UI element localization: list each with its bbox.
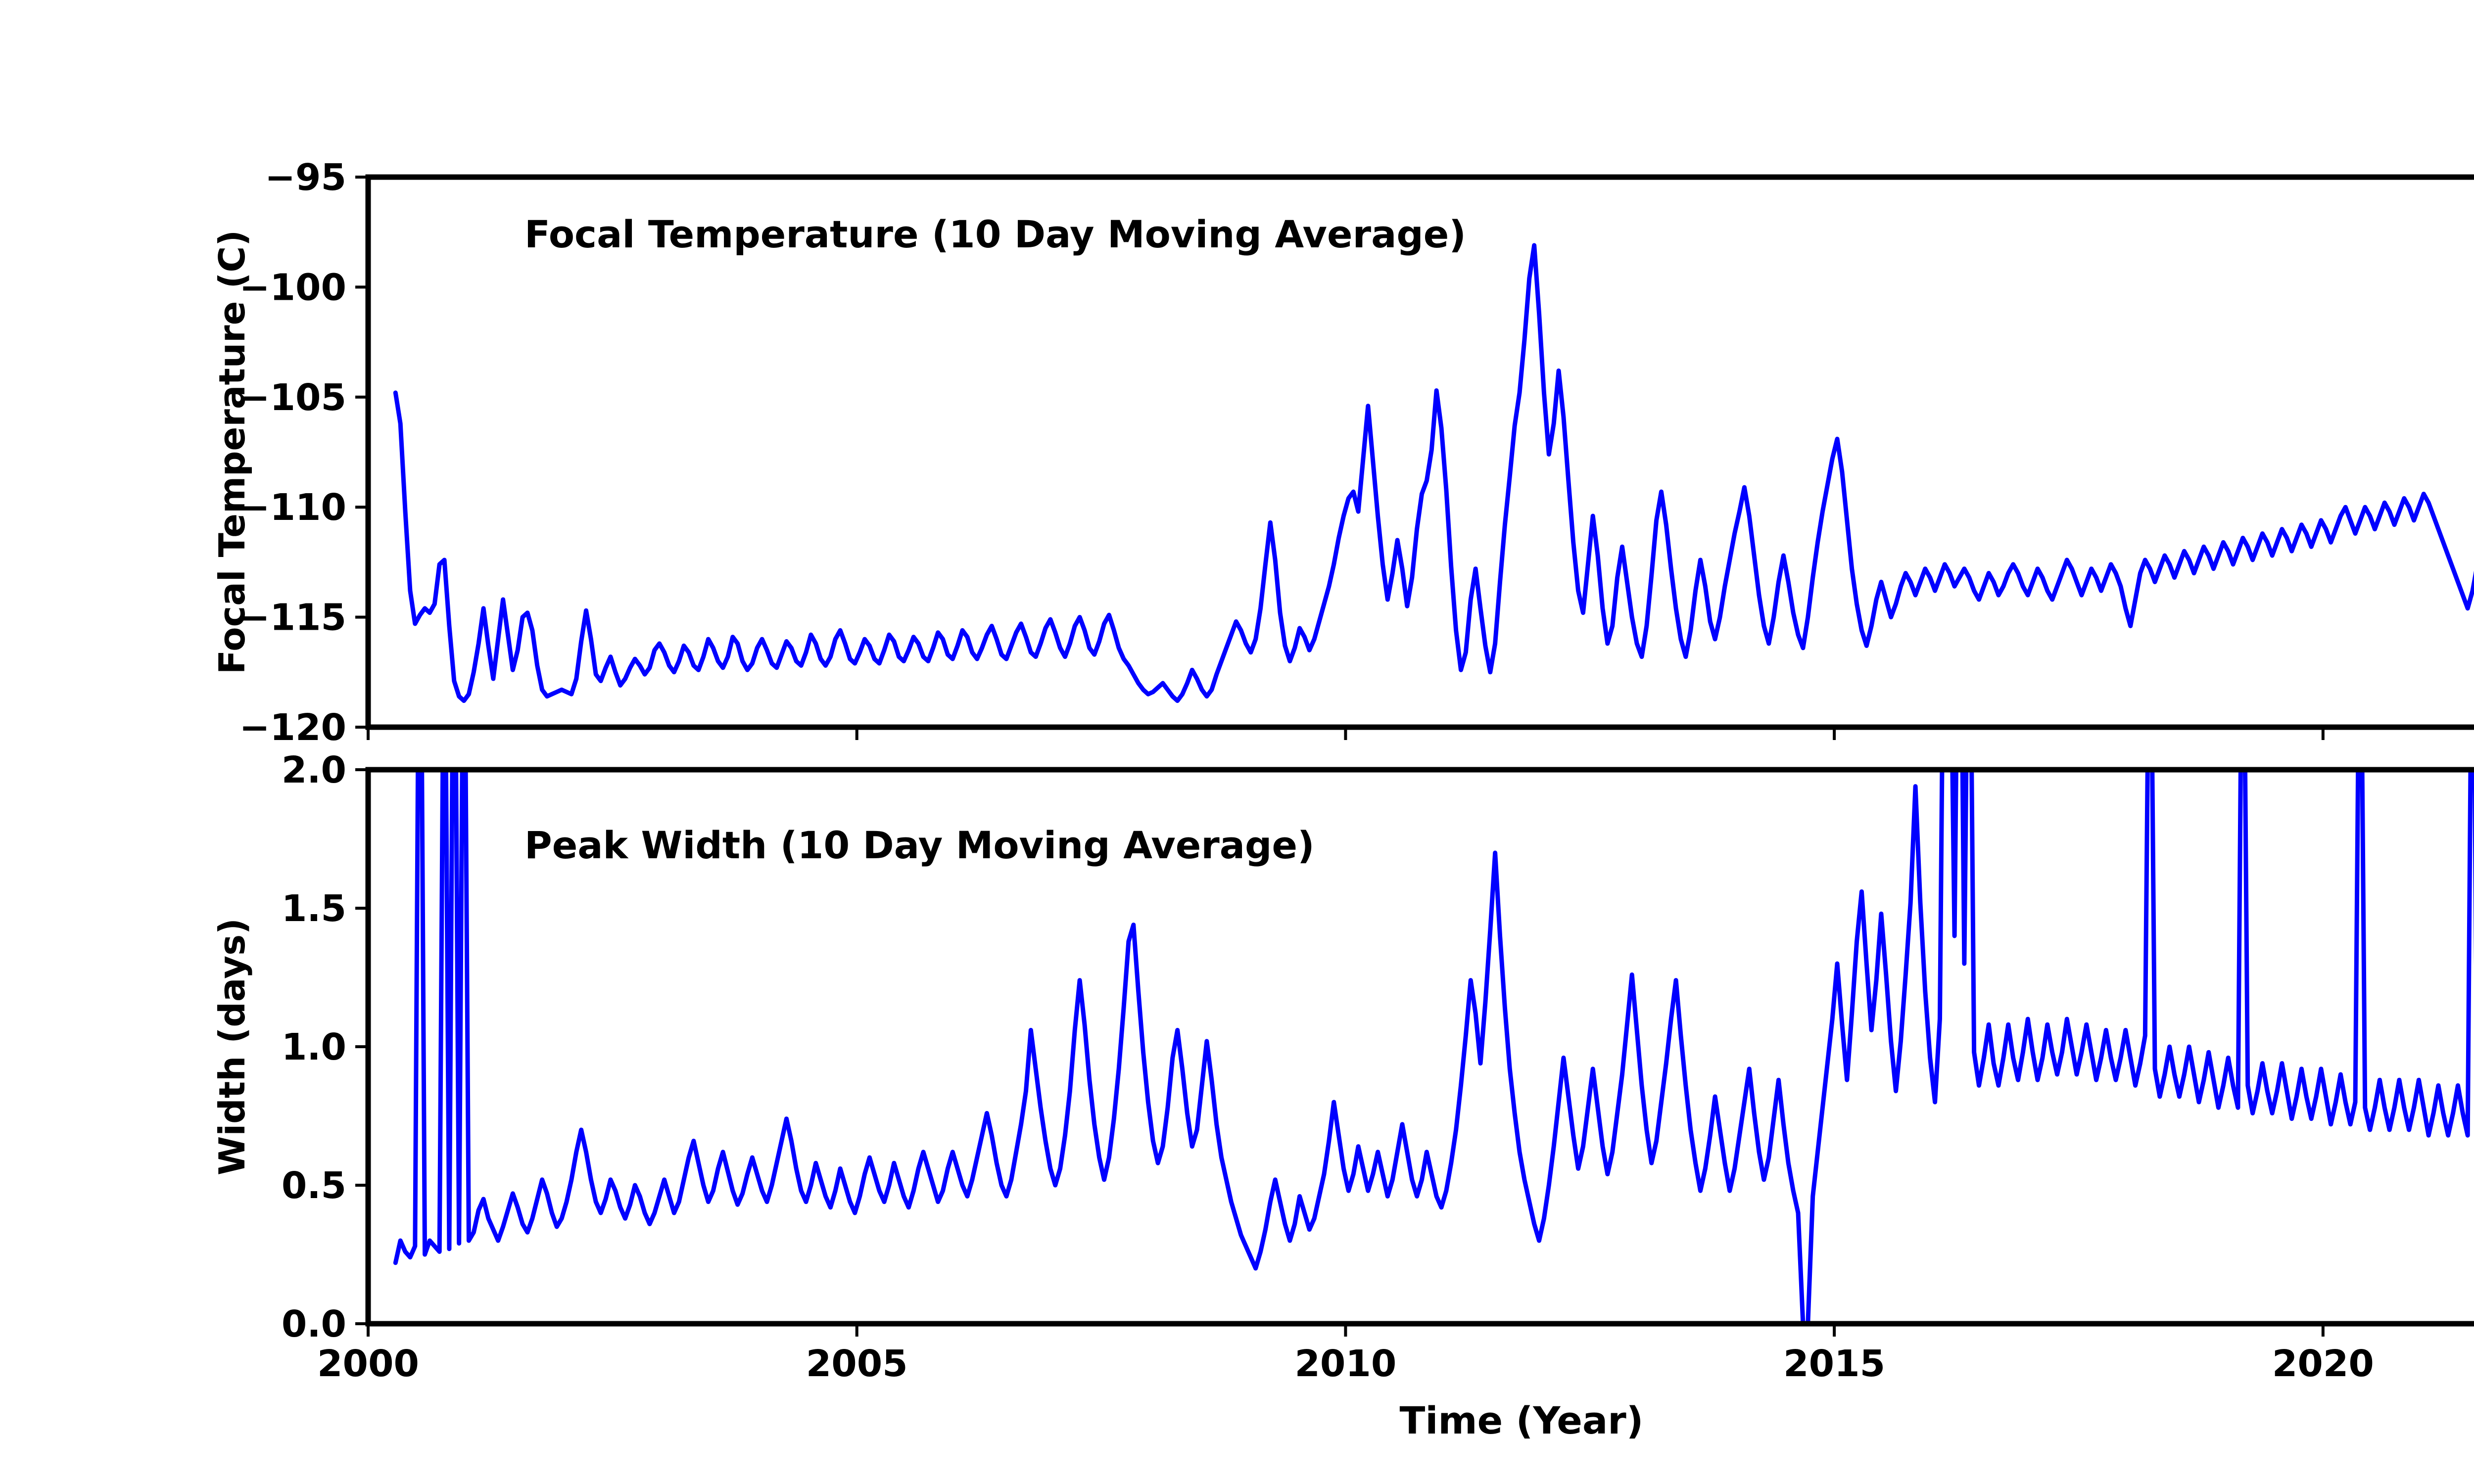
x-tick-label: 2020 bbox=[2272, 1343, 2374, 1385]
x-tick-label: 2015 bbox=[1783, 1343, 1885, 1385]
figure-svg: −120−115−110−105−100−95Focal Temperature… bbox=[0, 0, 2474, 1484]
panel-top: −120−115−110−105−100−95Focal Temperature… bbox=[211, 156, 2474, 749]
y-axis-label-bottom: Width (days) bbox=[211, 918, 253, 1175]
data-trace-top bbox=[395, 245, 2474, 701]
y-axis-label-top: Focal Temperature (C) bbox=[211, 230, 253, 674]
y-tick-label: −120 bbox=[239, 706, 346, 749]
data-trace-bottom bbox=[395, 437, 2474, 1324]
panel-title-top: Focal Temperature (10 Day Moving Average… bbox=[524, 212, 1466, 256]
figure-canvas: −120−115−110−105−100−95Focal Temperature… bbox=[0, 0, 2474, 1484]
y-tick-label: −95 bbox=[265, 156, 346, 199]
x-tick-label: 2000 bbox=[317, 1343, 419, 1385]
y-tick-label: 1.0 bbox=[282, 1026, 346, 1068]
y-tick-label: −110 bbox=[239, 486, 346, 529]
y-tick-label: 2.0 bbox=[282, 749, 346, 791]
y-tick-label: 0.5 bbox=[282, 1164, 346, 1207]
panel-bottom: 0.00.51.01.52.020002005201020152020Peak … bbox=[211, 437, 2474, 1442]
y-tick-label: 1.5 bbox=[282, 887, 346, 930]
y-tick-label: 0.0 bbox=[282, 1303, 346, 1345]
y-tick-label: −105 bbox=[239, 376, 346, 419]
panel-title-bottom: Peak Width (10 Day Moving Average) bbox=[524, 823, 1315, 867]
x-axis-label: Time (Year) bbox=[1400, 1398, 1644, 1442]
y-tick-label: −115 bbox=[239, 597, 346, 639]
x-tick-label: 2010 bbox=[1294, 1343, 1396, 1385]
y-tick-label: −100 bbox=[239, 266, 346, 309]
x-tick-label: 2005 bbox=[806, 1343, 908, 1385]
